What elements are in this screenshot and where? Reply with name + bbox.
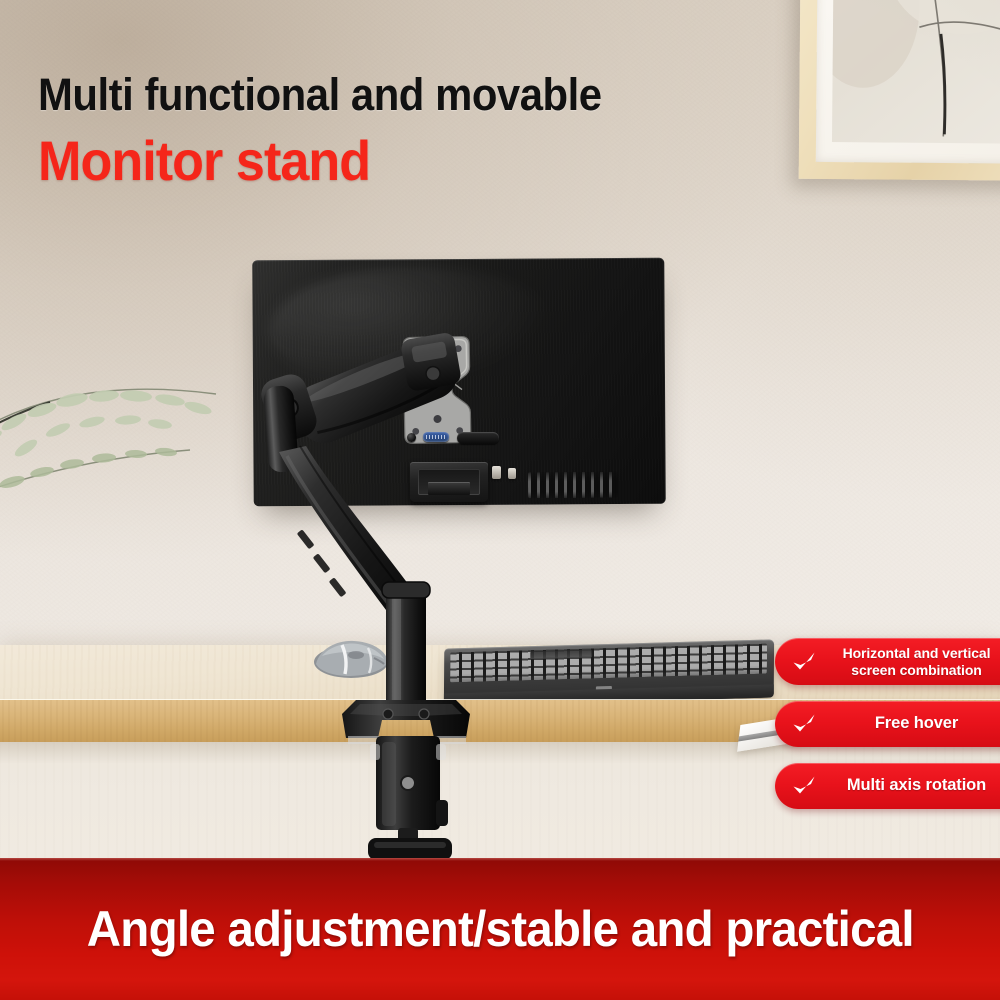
feature-badge-list: Horizontal and vertical screen combinati…: [775, 638, 1000, 809]
banner-top-highlight: [0, 858, 1000, 861]
feature-badge-1[interactable]: Horizontal and vertical screen combinati…: [775, 638, 1000, 685]
page-subtitle: Monitor stand: [38, 133, 745, 189]
page-title: Multi functional and movable: [38, 72, 745, 117]
feature-badge-3[interactable]: Multi axis rotation: [775, 763, 1000, 809]
check-icon: [789, 711, 819, 737]
feature-badge-2[interactable]: Free hover: [775, 701, 1000, 747]
product-banner: Multi functional and movable Monitor sta…: [0, 0, 1000, 1000]
bottom-banner: Angle adjustment/stable and practical: [0, 858, 1000, 1000]
check-icon: [789, 773, 819, 799]
banner-text: Angle adjustment/stable and practical: [86, 900, 913, 958]
check-icon: [789, 649, 819, 675]
feature-badge-label: Horizontal and vertical screen combinati…: [825, 645, 1000, 678]
feature-badge-label: Multi axis rotation: [825, 776, 1000, 795]
feature-badge-label: Free hover: [825, 714, 1000, 733]
